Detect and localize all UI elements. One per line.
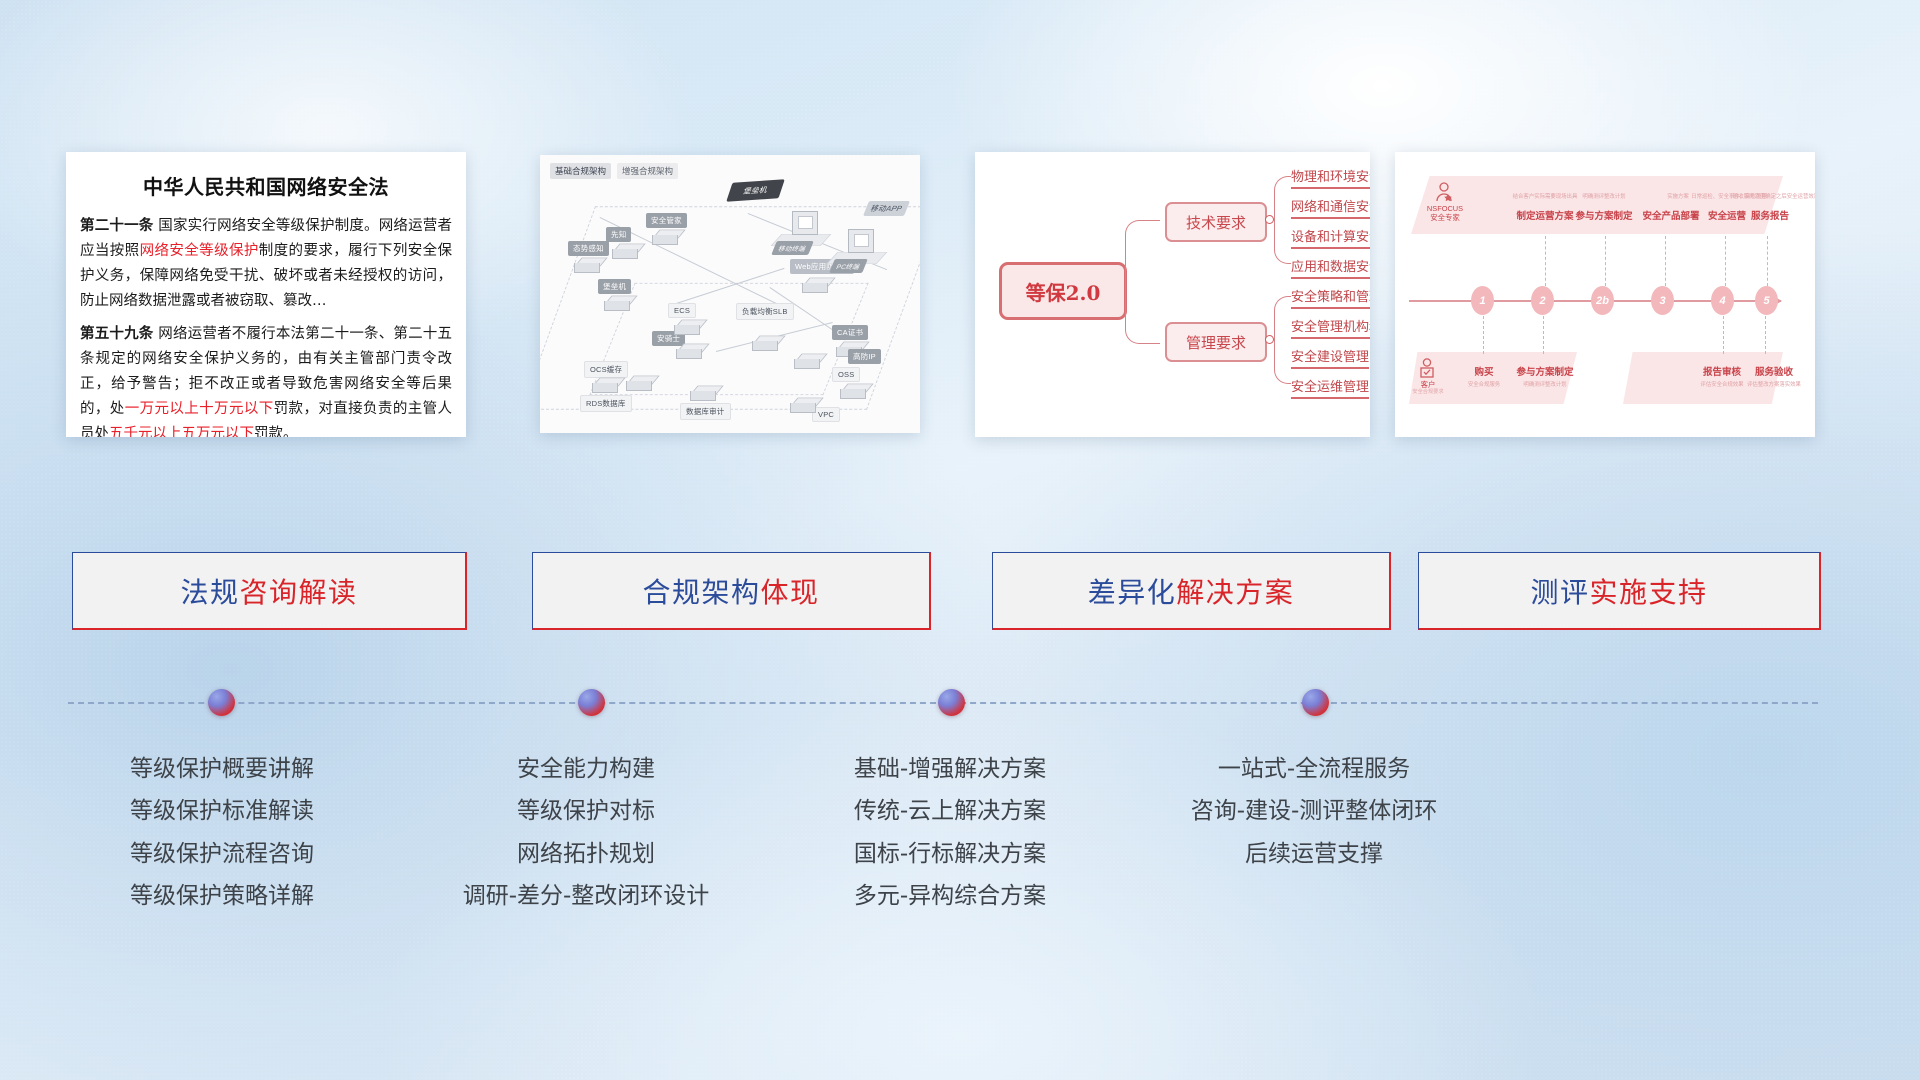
mindmap-root: 等保2.0 (999, 262, 1127, 320)
node-security-butler: 安全管家 (646, 213, 687, 228)
step-6b-sub: 评估整改方案落实效果 (1735, 380, 1813, 388)
law-article-59-label: 第五十九条 (80, 326, 153, 342)
list-item: 咨询-建设-测评整体闭环 (1128, 790, 1500, 832)
node-bastion-host: 堡垒机 (598, 279, 631, 294)
card-dengbao-mindmap[interactable]: 等保2.0 技术要求 物理和环境安全 网络和通信安全 设备和计算安全 应用和数据… (975, 152, 1370, 437)
mindmap-branch-management: 管理要求 (1165, 322, 1267, 362)
tick-4 (1665, 236, 1666, 286)
list-assessment-support: 一站式-全流程服务 咨询-建设-测评整体闭环 后续运营支撑 (1128, 748, 1500, 875)
step-6-sub: 验收服务范围确定之后安全运营效果 (1713, 192, 1815, 200)
mindmap-leaf-construction: 安全建设管理 (1291, 346, 1369, 369)
device-pc-terminal (848, 229, 874, 253)
cube-vpc (790, 395, 816, 415)
cards-row: 中华人民共和国网络安全法 第二十一条 国家实行网络安全等级保护制度。网络运营者应… (0, 0, 1920, 440)
node-situational-awareness: 态势感知 (568, 241, 609, 256)
tick-6 (1767, 236, 1768, 286)
service-timeline: NSFOCUS 安全专家 客户 安全合规要求 1 2 2b 3 4 5 (1395, 152, 1815, 437)
mindmap-leaf-network: 网络和通信安全 (1291, 196, 1370, 219)
cube-security-butler (652, 227, 678, 247)
cube-slb-2 (794, 351, 820, 371)
title-box-regulation-consulting[interactable]: 法规咨询解读 (72, 552, 467, 630)
cube-database-audit (690, 383, 716, 403)
node-ca-certificate: CA证书 (832, 325, 868, 340)
card-service-timeline[interactable]: NSFOCUS 安全专家 客户 安全合规要求 1 2 2b 3 4 5 (1395, 152, 1815, 437)
title-box-assessment-support[interactable]: 测评实施支持 (1418, 552, 1821, 630)
expert-persona-label: NSFOCUS 安全专家 (1417, 204, 1473, 223)
cube-oss (840, 381, 866, 401)
cube-slb (752, 333, 778, 353)
tick-1-down (1483, 316, 1484, 354)
step-6b-main: 服务验收 (1739, 364, 1809, 378)
tick-3 (1605, 236, 1606, 286)
mindmap-spine (1125, 220, 1160, 344)
title-4-red: 实施支持 (1590, 571, 1708, 611)
step-2b-sub: 明确测评整改计划 (1507, 380, 1583, 388)
milestone-5[interactable]: 4 (1711, 286, 1734, 315)
mindmap: 等保2.0 技术要求 物理和环境安全 网络和通信安全 设备和计算安全 应用和数据… (975, 152, 1370, 437)
mindmap-leaf-device: 设备和计算安全 (1291, 226, 1370, 249)
mindmap-dot-management (1265, 335, 1274, 344)
list-item: 传统-云上解决方案 (764, 790, 1136, 832)
law-article-59-text-c: 罚款。 (254, 426, 298, 438)
milestone-1[interactable]: 1 (1471, 286, 1494, 315)
tab-basic-architecture[interactable]: 基础合规架构 (550, 163, 611, 179)
device-mobile-terminal (792, 211, 818, 235)
timeline-node-1[interactable] (208, 689, 235, 716)
timeline-node-2[interactable] (578, 689, 605, 716)
mindmap-fan-management (1274, 296, 1291, 384)
tick-5-down (1723, 316, 1724, 354)
tick-2 (1545, 236, 1546, 286)
title-3-blue: 差异化 (1088, 571, 1177, 611)
law-article-21-label: 第二十一条 (80, 218, 153, 234)
architecture-tabs: 基础合规架构 增强合规架构 (550, 163, 678, 179)
list-item: 国标-行标解决方案 (764, 833, 1136, 875)
node-xianzhi: 先知 (606, 227, 631, 242)
tick-2-down (1543, 316, 1544, 354)
milestone-3[interactable]: 2b (1591, 286, 1614, 315)
customer-role-sub: 安全合规要求 (1405, 389, 1451, 396)
list-item: 等级保护对标 (400, 790, 772, 832)
list-item: 等级保护策略详解 (36, 875, 408, 917)
title-3-red: 解决方案 (1176, 571, 1294, 611)
law-document: 中华人民共和国网络安全法 第二十一条 国家实行网络安全等级保护制度。网络运营者应… (66, 152, 466, 437)
title-box-compliance-architecture[interactable]: 合规架构体现 (532, 552, 931, 630)
mindmap-leaf-application: 应用和数据安全 (1291, 256, 1370, 279)
card-compliance-architecture[interactable]: 基础合规架构 增强合规架构 堡垒机 安全管家 先知 态势感知 堡垒机 安 (540, 155, 920, 433)
mindmap-branch-technical: 技术要求 (1165, 202, 1267, 242)
node-anti-ddos-ip: 高防IP (848, 349, 881, 364)
list-item: 调研-差分-整改闭环设计 (400, 875, 772, 917)
law-article-21-highlight: 网络安全等级保护 (140, 243, 259, 259)
tab-enhanced-architecture[interactable]: 增强合规架构 (617, 163, 678, 179)
milestone-4[interactable]: 3 (1651, 286, 1674, 315)
customer-icon (1417, 358, 1437, 378)
milestone-2[interactable]: 2 (1531, 286, 1554, 315)
cube-ecs (674, 317, 700, 337)
law-article-59: 第五十九条 网络运营者不履行本法第二十一条、第二十五条规定的网络安全保护义务的，… (80, 322, 452, 437)
list-item: 一站式-全流程服务 (1128, 748, 1500, 790)
law-article-59-highlight-2: 五千元以上五万元以下 (109, 426, 254, 438)
expert-brand: NSFOCUS (1417, 204, 1473, 213)
list-item: 网络拓扑规划 (400, 833, 772, 875)
title-4-blue: 测评 (1530, 571, 1589, 611)
cube-waf (802, 275, 828, 295)
mindmap-leaf-operation: 安全运维管理 (1291, 376, 1369, 399)
law-article-59-highlight-1: 一万元以上十万元以下 (125, 401, 274, 417)
cube-bastion-host (604, 293, 630, 313)
cube-rds-database (626, 373, 652, 393)
list-item: 基础-增强解决方案 (764, 748, 1136, 790)
card-cybersecurity-law[interactable]: 中华人民共和国网络安全法 第二十一条 国家实行网络安全等级保护制度。网络运营者应… (66, 152, 466, 437)
cube-xianzhi (612, 241, 638, 261)
mindmap-leaf-physical: 物理和环境安全 (1291, 166, 1370, 189)
node-oss: OSS (832, 367, 860, 382)
law-article-21: 第二十一条 国家实行网络安全等级保护制度。网络运营者应当按照网络安全等级保护制度… (80, 214, 452, 314)
mindmap-fan-technical (1274, 176, 1291, 264)
title-2-red: 体现 (761, 571, 820, 611)
list-item: 等级保护流程咨询 (36, 833, 408, 875)
customer-role: 客户 (1405, 380, 1451, 389)
step-1-sub: 安全合规服务 (1455, 380, 1513, 388)
timeline-node-4[interactable] (1302, 689, 1329, 716)
list-item: 等级保护标准解读 (36, 790, 408, 832)
node-rds-database: RDS数据库 (580, 395, 632, 412)
mindmap-leaf-policy: 安全策略和管理制度 (1291, 286, 1370, 309)
node-mobile-terminal: 移动终端 (771, 241, 813, 255)
timeline-node-3[interactable] (938, 689, 965, 716)
title-box-differentiated-solution[interactable]: 差异化解决方案 (992, 552, 1391, 630)
expert-icon (1433, 182, 1455, 202)
node-ecs: ECS (668, 303, 696, 318)
node-vpc: VPC (812, 407, 840, 422)
node-fortress-dark: 堡垒机 (726, 179, 785, 202)
mindmap-dot-technical (1265, 215, 1274, 224)
list-differentiated-solution: 基础-增强解决方案 传统-云上解决方案 国标-行标解决方案 多元-异构综合方案 (764, 748, 1136, 917)
cube-situational-awareness (574, 255, 600, 275)
mindmap-leaf-organization: 安全管理机构和人员 (1291, 316, 1370, 339)
tick-6-down (1765, 316, 1766, 354)
list-item: 安全能力构建 (400, 748, 772, 790)
expert-role: 安全专家 (1417, 213, 1473, 222)
list-item: 等级保护概要讲解 (36, 748, 408, 790)
title-1-blue: 法规 (180, 571, 239, 611)
architecture-diagram: 基础合规架构 增强合规架构 堡垒机 安全管家 先知 态势感知 堡垒机 安 (540, 155, 920, 433)
title-2-blue: 合规架构 (642, 571, 760, 611)
cube-anqishi (676, 341, 702, 361)
customer-persona-label: 客户 安全合规要求 (1405, 380, 1451, 396)
step-2b-main: 参与方案制定 (1507, 364, 1583, 378)
tick-5 (1725, 236, 1726, 286)
list-item: 多元-异构综合方案 (764, 875, 1136, 917)
list-regulation-consulting: 等级保护概要讲解 等级保护标准解读 等级保护流程咨询 等级保护策略详解 (36, 748, 408, 917)
node-mobile-app: 移动APP (863, 201, 910, 216)
list-compliance-architecture: 安全能力构建 等级保护对标 网络拓扑规划 调研-差分-整改闭环设计 (400, 748, 772, 917)
cube-ocs-cache (592, 375, 618, 395)
list-item: 后续运营支撑 (1128, 833, 1500, 875)
band-customer-right (1623, 352, 1783, 404)
step-6-main: 服务报告 (1735, 208, 1805, 222)
node-database-audit: 数据库审计 (680, 403, 731, 420)
law-title: 中华人民共和国网络安全法 (80, 171, 452, 200)
milestone-6[interactable]: 5 (1755, 286, 1778, 315)
title-1-red: 咨询解读 (240, 571, 358, 611)
step-1-main: 购买 (1461, 364, 1507, 378)
node-slb: 负载均衡SLB (736, 303, 794, 320)
node-pc-terminal: PC终端 (829, 259, 868, 273)
